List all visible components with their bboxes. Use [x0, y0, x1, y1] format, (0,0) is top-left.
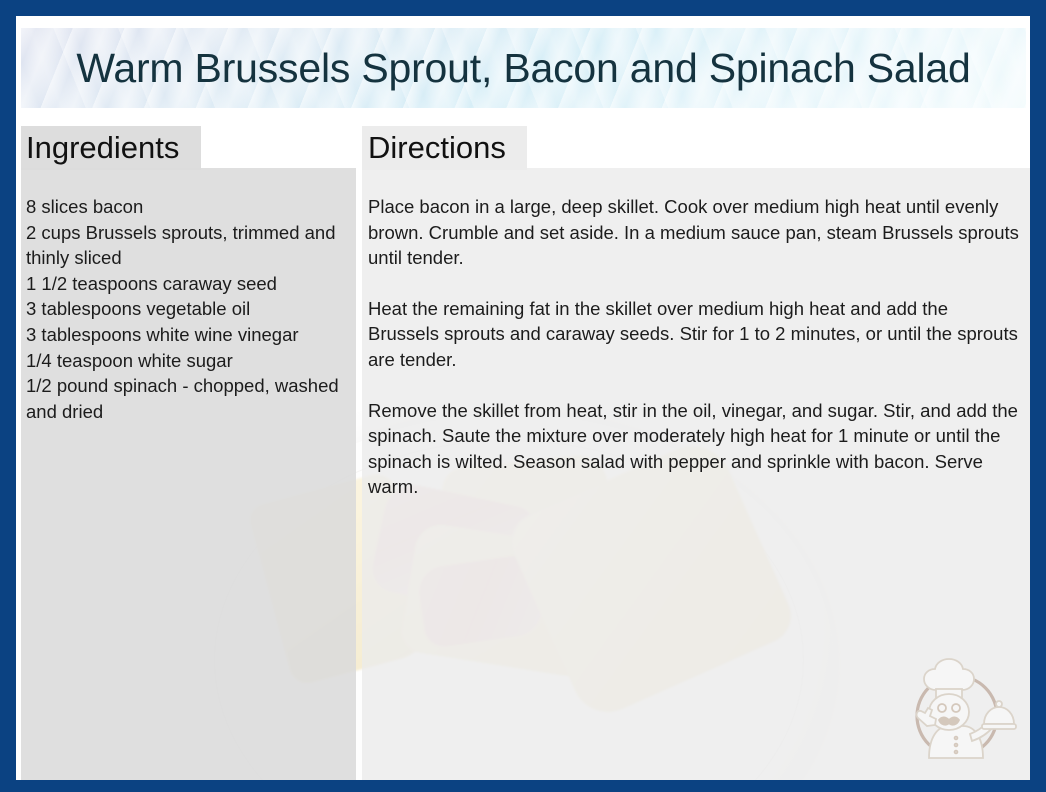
- ingredient-item: 1/4 teaspoon white sugar: [26, 348, 351, 374]
- ingredient-item: 1 1/2 teaspoons caraway seed: [26, 271, 351, 297]
- direction-step: Remove the skillet from heat, stir in th…: [368, 398, 1023, 500]
- ingredients-list: 8 slices bacon 2 cups Brussels sprouts, …: [26, 194, 351, 424]
- direction-step: Heat the remaining fat in the skillet ov…: [368, 296, 1023, 373]
- directions-list: Place bacon in a large, deep skillet. Co…: [368, 194, 1023, 500]
- page-title: Warm Brussels Sprout, Bacon and Spinach …: [76, 48, 970, 89]
- ingredient-item: 8 slices bacon: [26, 194, 351, 220]
- card-inner: Warm Brussels Sprout, Bacon and Spinach …: [16, 16, 1030, 780]
- ingredients-heading: Ingredients: [26, 132, 179, 163]
- ingredient-item: 2 cups Brussels sprouts, trimmed and thi…: [26, 220, 351, 271]
- direction-step: Place bacon in a large, deep skillet. Co…: [368, 194, 1023, 271]
- ingredient-item: 3 tablespoons vegetable oil: [26, 296, 351, 322]
- recipe-card: Warm Brussels Sprout, Bacon and Spinach …: [0, 0, 1046, 792]
- title-banner: Warm Brussels Sprout, Bacon and Spinach …: [21, 28, 1026, 108]
- chef-mascot-logo: [896, 646, 1022, 772]
- directions-heading: Directions: [368, 132, 506, 163]
- ingredient-item: 1/2 pound spinach - chopped, washed and …: [26, 373, 351, 424]
- ingredient-item: 3 tablespoons white wine vinegar: [26, 322, 351, 348]
